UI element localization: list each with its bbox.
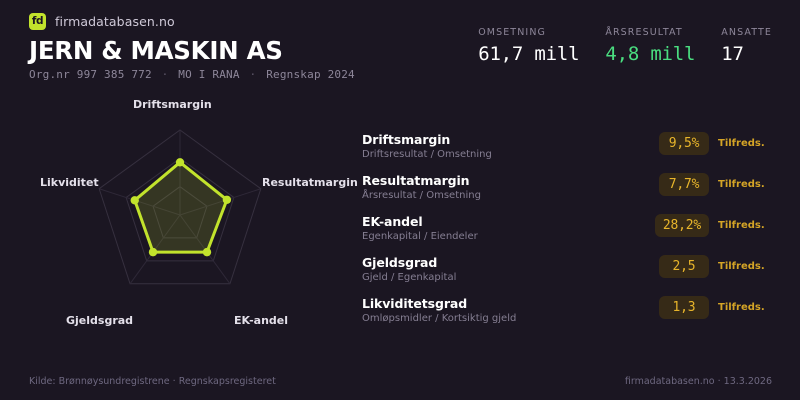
metric-text: Likviditetsgrad Omløpsmidler / Kortsikti… <box>362 295 659 325</box>
metric-row-ek-andel: EK-andel Egenkapital / Eiendeler 28,2% T… <box>362 213 774 254</box>
metrics-list: Driftsmargin Driftsresultat / Omsetning … <box>362 131 774 336</box>
radar-data-point: Likviditet: 1,3 <box>131 196 139 204</box>
metric-row-likviditetsgrad: Likviditetsgrad Omløpsmidler / Kortsikti… <box>362 295 774 336</box>
metric-formula: Årsresultat / Omsetning <box>362 190 659 202</box>
org-number: Org.nr 997 385 772 <box>29 68 152 81</box>
kpi-omsetning: OMSETNING 61,7 mill <box>478 27 579 65</box>
page-title: JERN & MASKIN AS <box>29 36 283 65</box>
radar-axis-label-resultatmargin: Resultatmargin <box>262 176 358 189</box>
metric-row-driftsmargin: Driftsmargin Driftsresultat / Omsetning … <box>362 131 774 172</box>
metric-value-badge: 9,5% <box>659 132 709 155</box>
brand-name: firmadatabasen.no <box>55 14 175 29</box>
firmadatabasen-logo-icon: fd <box>29 13 46 30</box>
metric-formula: Omløpsmidler / Kortsiktig gjeld <box>362 313 659 325</box>
status-badge: Tilfreds. <box>718 138 774 149</box>
radar-axis-label-ek-andel: EK-andel <box>234 314 288 327</box>
metric-formula: Gjeld / Egenkapital <box>362 272 659 284</box>
metric-row-gjeldsgrad: Gjeldsgrad Gjeld / Egenkapital 2,5 Tilfr… <box>362 254 774 295</box>
metric-text: Gjeldsgrad Gjeld / Egenkapital <box>362 254 659 284</box>
metric-right: 2,5 Tilfreds. <box>659 254 774 278</box>
status-badge: Tilfreds. <box>718 302 774 313</box>
metric-value-badge: 28,2% <box>655 214 709 237</box>
radar-series-area <box>135 162 227 252</box>
brand-logo[interactable]: fd firmadatabasen.no <box>29 13 175 30</box>
meta-separator-2: · <box>247 68 260 81</box>
kpi-arsresultat: ÅRSRESULTAT 4,8 mill <box>605 27 695 65</box>
radar-axis-label-driftsmargin: Driftsmargin <box>133 98 212 111</box>
metric-name: Resultatmargin <box>362 173 659 188</box>
metric-right: 1,3 Tilfreds. <box>659 295 774 319</box>
kpi-ansatte-value: 17 <box>721 43 772 65</box>
radar-chart-svg: Driftsmargin: 9,5%Resultatmargin: 7,7%EK… <box>0 88 360 338</box>
status-badge: Tilfreds. <box>718 179 774 190</box>
metric-row-resultatmargin: Resultatmargin Årsresultat / Omsetning 7… <box>362 172 774 213</box>
kpi-arsresultat-label: ÅRSRESULTAT <box>605 27 695 38</box>
kpi-arsresultat-value: 4,8 mill <box>605 43 695 65</box>
status-badge: Tilfreds. <box>718 220 774 231</box>
footer-source: Kilde: Brønnøysundregistrene · Regnskaps… <box>29 376 276 387</box>
radar-data-point: Gjeldsgrad: 2,5 <box>149 248 157 256</box>
radar-data-point: EK-andel: 28,2% <box>203 248 211 256</box>
metric-value-badge: 2,5 <box>659 255 709 278</box>
radar-chart: Driftsmargin: 9,5%Resultatmargin: 7,7%EK… <box>0 88 360 338</box>
company-city: MO I RANA <box>178 68 239 81</box>
accounting-year: Regnskap 2024 <box>266 68 355 81</box>
report-card: fd firmadatabasen.no JERN & MASKIN AS Or… <box>0 0 800 400</box>
metric-name: EK-andel <box>362 214 655 229</box>
metric-value-badge: 7,7% <box>659 173 709 196</box>
kpi-strip: OMSETNING 61,7 mill ÅRSRESULTAT 4,8 mill… <box>478 27 772 65</box>
status-badge: Tilfreds. <box>718 261 774 272</box>
metric-text: Driftsmargin Driftsresultat / Omsetning <box>362 131 659 161</box>
metric-name: Likviditetsgrad <box>362 296 659 311</box>
header: fd firmadatabasen.no JERN & MASKIN AS Or… <box>0 0 800 90</box>
radar-data-point: Resultatmargin: 7,7% <box>223 196 231 204</box>
metric-name: Driftsmargin <box>362 132 659 147</box>
meta-separator-1: · <box>159 68 172 81</box>
kpi-omsetning-value: 61,7 mill <box>478 43 579 65</box>
footer-site-date: firmadatabasen.no · 13.3.2026 <box>625 376 772 387</box>
company-meta: Org.nr 997 385 772 · MO I RANA · Regnska… <box>29 68 355 81</box>
metric-text: Resultatmargin Årsresultat / Omsetning <box>362 172 659 202</box>
metric-formula: Driftsresultat / Omsetning <box>362 149 659 161</box>
metric-right: 9,5% Tilfreds. <box>659 131 774 155</box>
footer: Kilde: Brønnøysundregistrene · Regnskaps… <box>0 368 800 400</box>
radar-data-point: Driftsmargin: 9,5% <box>176 158 184 166</box>
kpi-ansatte: ANSATTE 17 <box>721 27 772 65</box>
metric-formula: Egenkapital / Eiendeler <box>362 231 655 243</box>
metric-right: 7,7% Tilfreds. <box>659 172 774 196</box>
radar-axis-label-gjeldsgrad: Gjeldsgrad <box>66 314 133 327</box>
radar-axis-label-likviditet: Likviditet <box>40 176 99 189</box>
metric-name: Gjeldsgrad <box>362 255 659 270</box>
metric-text: EK-andel Egenkapital / Eiendeler <box>362 213 655 243</box>
metric-right: 28,2% Tilfreds. <box>655 213 774 237</box>
metric-value-badge: 1,3 <box>659 296 709 319</box>
kpi-omsetning-label: OMSETNING <box>478 27 579 38</box>
kpi-ansatte-label: ANSATTE <box>721 27 772 38</box>
